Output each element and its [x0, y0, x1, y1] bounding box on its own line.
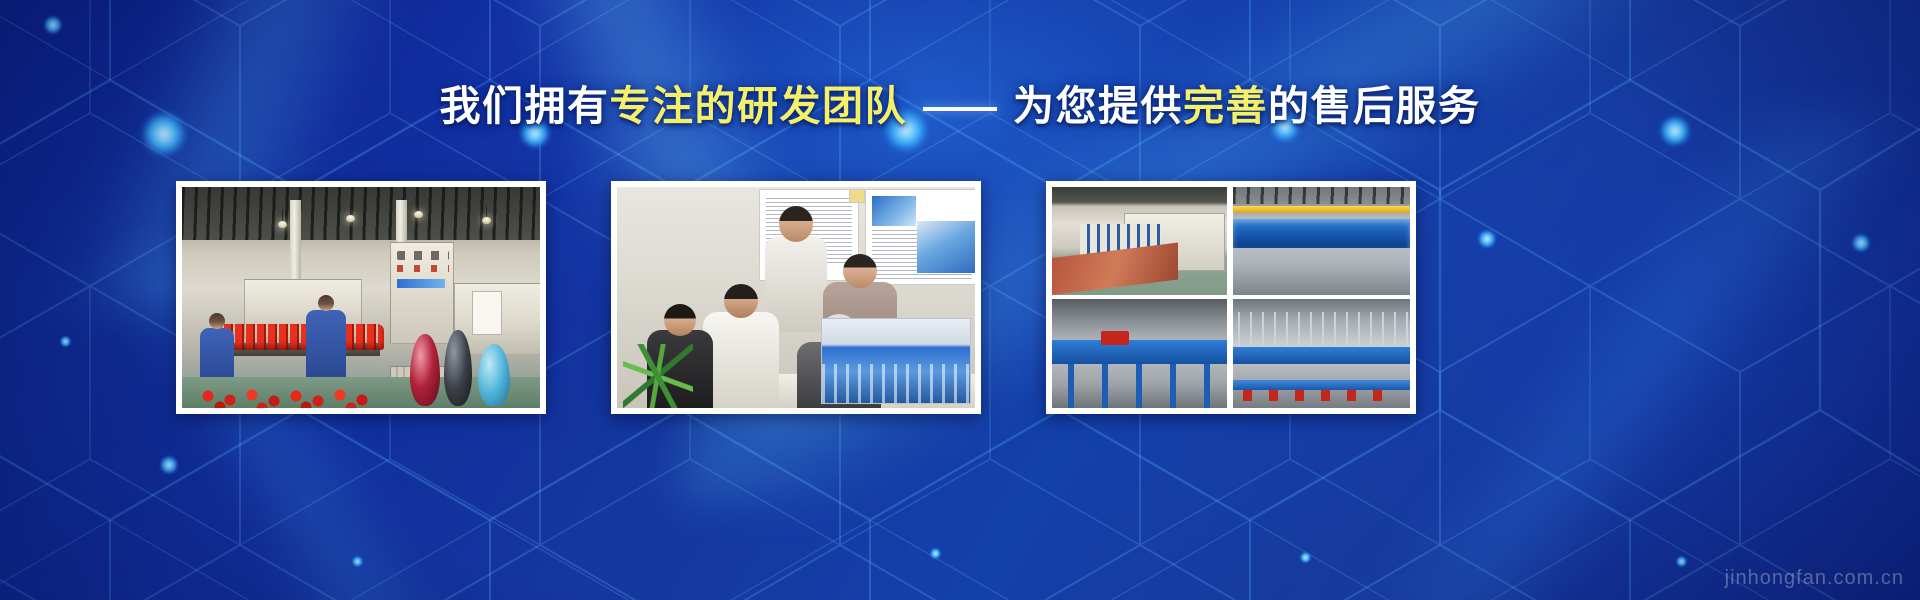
- collage-cell-top-left: [1052, 187, 1227, 295]
- headline-dash-icon: [923, 107, 997, 111]
- collage-cell-bottom-right: [1233, 299, 1410, 408]
- ceiling-lamp-icon: [346, 215, 355, 222]
- person-head: [843, 254, 877, 288]
- certificate-badge: [849, 189, 865, 203]
- photo-card-1[interactable]: [176, 181, 546, 414]
- person-head: [779, 206, 813, 242]
- glow-node-icon: [930, 548, 941, 559]
- worker-head: [318, 295, 334, 311]
- headline-highlight-1: 专注的研发团队: [610, 83, 908, 129]
- overhead-rail: [1233, 347, 1410, 365]
- red-workpiece: [1101, 331, 1129, 344]
- promo-banner: 我们拥有专注的研发团队为您提供完善的售后服务: [0, 0, 1920, 600]
- panel-label: [397, 279, 445, 288]
- glow-node-icon: [1300, 552, 1311, 563]
- poster-thumbnail: [872, 196, 916, 226]
- site-watermark: jinhongfan.com.cn: [1725, 567, 1904, 590]
- collage-cell-bottom-left: [1052, 299, 1227, 408]
- headline-segment-3: 为您提供: [1013, 83, 1183, 129]
- photo-card-3[interactable]: [1046, 181, 1416, 414]
- equipment-photo-insert: [821, 318, 971, 404]
- headline: 我们拥有专注的研发团队为您提供完善的售后服务: [0, 86, 1920, 127]
- photo-gallery: [0, 181, 1920, 416]
- person-head: [664, 304, 696, 336]
- yellow-pipe: [1233, 206, 1410, 212]
- photo-card-2[interactable]: [611, 181, 981, 414]
- red-workpieces-on-line: [212, 324, 384, 350]
- photo-image-2: [617, 187, 975, 408]
- lower-rail: [1233, 380, 1410, 391]
- posted-document: [472, 291, 502, 335]
- glow-node-icon: [160, 456, 178, 474]
- blue-vase: [478, 344, 510, 406]
- headline-highlight-2: 完善: [1183, 83, 1268, 129]
- roof-beam: [1233, 187, 1410, 204]
- glow-node-icon: [1676, 556, 1687, 567]
- headline-segment-5: 的售后服务: [1268, 83, 1481, 129]
- seated-person: [703, 312, 779, 408]
- collage-cell-top-right: [1233, 187, 1410, 295]
- blue-conveyor: [1052, 340, 1227, 364]
- red-spheres-pile: [196, 366, 406, 408]
- photo-image-3: [1052, 187, 1410, 408]
- ceiling-lamp-icon: [278, 221, 287, 228]
- ceiling-lamp-icon: [414, 211, 423, 218]
- conveyor-supports: [1052, 364, 1227, 408]
- red-vase: [410, 334, 440, 406]
- worker-head: [209, 313, 225, 329]
- control-panel: [390, 242, 454, 344]
- glow-node-icon: [352, 556, 363, 567]
- headline-segment-1: 我们拥有: [440, 83, 610, 129]
- equipment-diagram: [917, 221, 975, 273]
- red-floor-path: [1052, 243, 1178, 295]
- blue-duct-line: [1233, 219, 1410, 247]
- panel-indicator-row: [397, 265, 449, 272]
- red-parts-row: [1243, 390, 1399, 401]
- ceiling-lamp-icon: [482, 217, 491, 224]
- glow-node-icon: [44, 16, 62, 34]
- potted-plant: [623, 344, 693, 408]
- person-head: [724, 284, 758, 318]
- photo-image-1: [182, 187, 540, 408]
- panel-buttons-row: [397, 251, 449, 260]
